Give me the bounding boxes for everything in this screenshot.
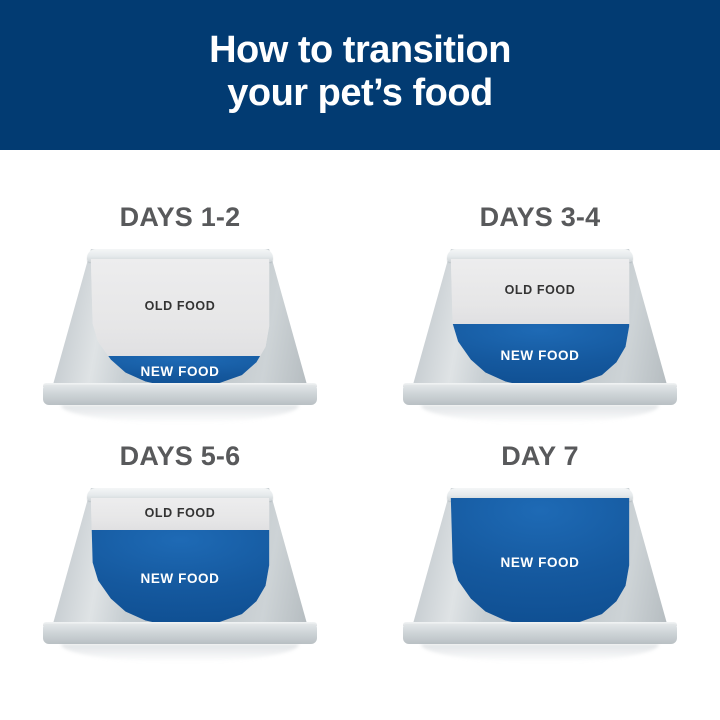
bowl-reflection: [61, 644, 299, 662]
bowl-reflection: [421, 644, 659, 662]
pet-bowl: OLD FOOD NEW FOOD: [409, 488, 671, 664]
bowl-reflection: [61, 405, 299, 423]
panel-title: DAYS 5-6: [120, 441, 241, 472]
bowl-base: [43, 624, 317, 644]
pet-bowl: OLD FOOD NEW FOOD: [409, 249, 671, 425]
transition-panel-days-5-6: DAYS 5-6 OLD FOOD NEW FOOD: [0, 435, 360, 720]
panel-title: DAY 7: [501, 441, 579, 472]
infographic-page: How to transition your pet’s food DAYS 1…: [0, 0, 720, 720]
old-food-fill: OLD FOOD: [449, 259, 631, 324]
bowl-base: [43, 385, 317, 405]
transition-panel-grid: DAYS 1-2 OLD FOOD NEW FOOD DAYS 3: [0, 150, 720, 720]
old-food-fill: OLD FOOD: [89, 259, 271, 356]
page-title: How to transition your pet’s food: [209, 29, 511, 114]
pet-bowl: OLD FOOD NEW FOOD: [49, 249, 311, 425]
pet-bowl: OLD FOOD NEW FOOD: [49, 488, 311, 664]
transition-panel-day-7: DAY 7 OLD FOOD NEW FOOD: [360, 435, 720, 720]
new-food-label: NEW FOOD: [449, 348, 631, 363]
old-food-label: OLD FOOD: [89, 299, 271, 313]
bowl-base: [403, 624, 677, 644]
panel-title: DAYS 1-2: [120, 202, 241, 233]
old-food-fill: OLD FOOD: [89, 498, 271, 530]
old-food-label: OLD FOOD: [89, 506, 271, 520]
panel-title: DAYS 3-4: [480, 202, 601, 233]
transition-panel-days-1-2: DAYS 1-2 OLD FOOD NEW FOOD: [0, 150, 360, 435]
bowl-base: [403, 385, 677, 405]
old-food-label: OLD FOOD: [449, 283, 631, 297]
new-food-label: NEW FOOD: [449, 555, 631, 570]
new-food-label: NEW FOOD: [89, 571, 271, 586]
transition-panel-days-3-4: DAYS 3-4 OLD FOOD NEW FOOD: [360, 150, 720, 435]
header-banner: How to transition your pet’s food: [0, 0, 720, 150]
bowl-reflection: [421, 405, 659, 423]
